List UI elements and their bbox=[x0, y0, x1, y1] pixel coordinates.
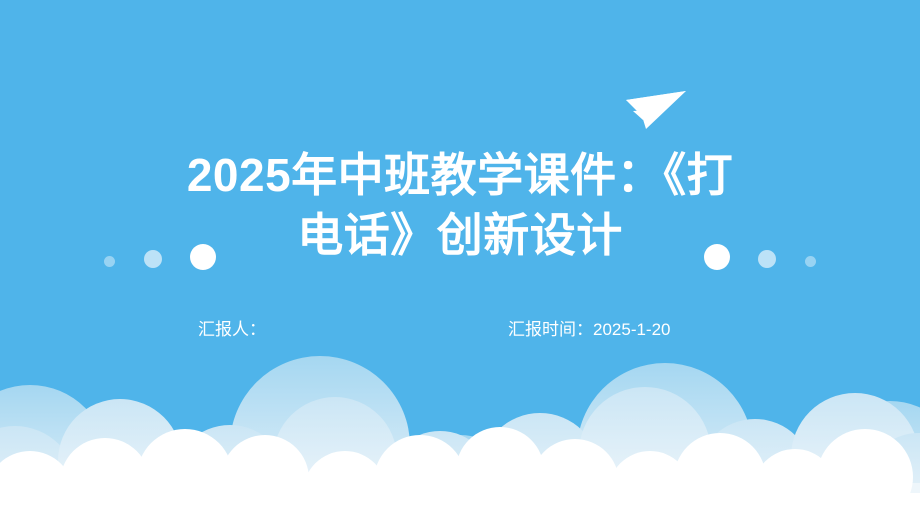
report-date-label: 汇报时间：2025-1-20 bbox=[508, 316, 671, 344]
presentation-cover-slide: 2025年中班教学课件：《打 电话》创新设计 汇报人： 汇报时间：2025-1-… bbox=[0, 0, 920, 518]
decor-dot-right-medium bbox=[758, 250, 776, 268]
decor-dot-left-small bbox=[104, 256, 115, 267]
decor-dot-left-medium bbox=[144, 250, 162, 268]
slide-title: 2025年中班教学课件：《打 电话》创新设计 bbox=[0, 145, 920, 265]
presenter-label: 汇报人： bbox=[198, 316, 266, 344]
decor-dot-right-large bbox=[704, 244, 730, 270]
cloud-decoration bbox=[0, 343, 920, 518]
title-line-1: 2025年中班教学课件：《打 bbox=[0, 145, 920, 205]
title-line-2: 电话》创新设计 bbox=[0, 205, 920, 265]
paper-plane-icon bbox=[612, 86, 692, 134]
decor-dot-right-small bbox=[805, 256, 816, 267]
decor-dot-left-large bbox=[190, 244, 216, 270]
slide-meta-row: 汇报人： 汇报时间：2025-1-20 bbox=[0, 316, 920, 344]
